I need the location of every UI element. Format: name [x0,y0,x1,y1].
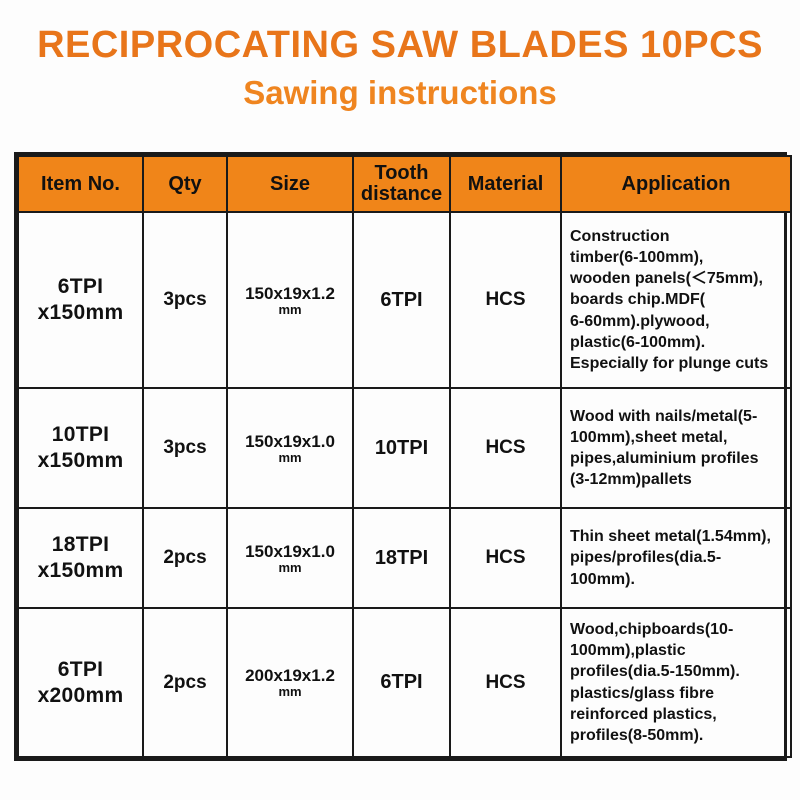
table-row: 6TPI x200mm 2pcs 200x19x1.2 mm 6TPI HCS … [18,608,791,757]
spec-table-wrapper: Item No. Qty Size Tooth distance Materia… [14,152,787,761]
spec-table: Item No. Qty Size Tooth distance Materia… [17,155,792,758]
cell-qty: 3pcs [143,212,227,388]
cell-size-value: 150x19x1.0 [245,542,335,561]
cell-item-no: 6TPI x200mm [18,608,143,757]
column-header-tooth-distance: Tooth distance [353,156,450,212]
cell-material: HCS [450,608,561,757]
column-header-qty: Qty [143,156,227,212]
column-header-material: Material [450,156,561,212]
page-title: RECIPROCATING SAW BLADES 10PCS [0,26,800,66]
column-header-application: Application [561,156,791,212]
product-spec-page: RECIPROCATING SAW BLADES 10PCS Sawing in… [0,0,800,800]
cell-material: HCS [450,388,561,508]
cell-application: Thin sheet metal(1.54mm), pipes/profiles… [561,508,791,608]
cell-item-no: 6TPI x150mm [18,212,143,388]
cell-tooth-distance: 18TPI [353,508,450,608]
cell-material: HCS [450,508,561,608]
cell-qty: 2pcs [143,608,227,757]
cell-size-unit: mm [230,685,350,698]
cell-size-value: 150x19x1.0 [245,432,335,451]
cell-material: HCS [450,212,561,388]
cell-size: 150x19x1.2 mm [227,212,353,388]
cell-application: Wood with nails/metal(5- 100mm),sheet me… [561,388,791,508]
cell-size-unit: mm [230,561,350,574]
cell-size: 150x19x1.0 mm [227,388,353,508]
cell-size-unit: mm [230,303,350,316]
cell-application: Construction timber(6-100mm), wooden pan… [561,212,791,388]
table-header-row: Item No. Qty Size Tooth distance Materia… [18,156,791,212]
cell-tooth-distance: 6TPI [353,608,450,757]
page-subtitle: Sawing instructions [0,74,800,112]
cell-item-no: 10TPI x150mm [18,388,143,508]
table-row: 10TPI x150mm 3pcs 150x19x1.0 mm 10TPI HC… [18,388,791,508]
cell-size-value: 200x19x1.2 [245,666,335,685]
table-row: 18TPI x150mm 2pcs 150x19x1.0 mm 18TPI HC… [18,508,791,608]
column-header-item-no: Item No. [18,156,143,212]
table-row: 6TPI x150mm 3pcs 150x19x1.2 mm 6TPI HCS … [18,212,791,388]
cell-size-unit: mm [230,451,350,464]
column-header-size: Size [227,156,353,212]
cell-tooth-distance: 6TPI [353,212,450,388]
cell-size: 200x19x1.2 mm [227,608,353,757]
cell-size: 150x19x1.0 mm [227,508,353,608]
cell-qty: 3pcs [143,388,227,508]
cell-qty: 2pcs [143,508,227,608]
cell-tooth-distance: 10TPI [353,388,450,508]
cell-item-no: 18TPI x150mm [18,508,143,608]
cell-application: Wood,chipboards(10- 100mm),plastic profi… [561,608,791,757]
cell-size-value: 150x19x1.2 [245,284,335,303]
title-block: RECIPROCATING SAW BLADES 10PCS Sawing in… [0,0,800,112]
